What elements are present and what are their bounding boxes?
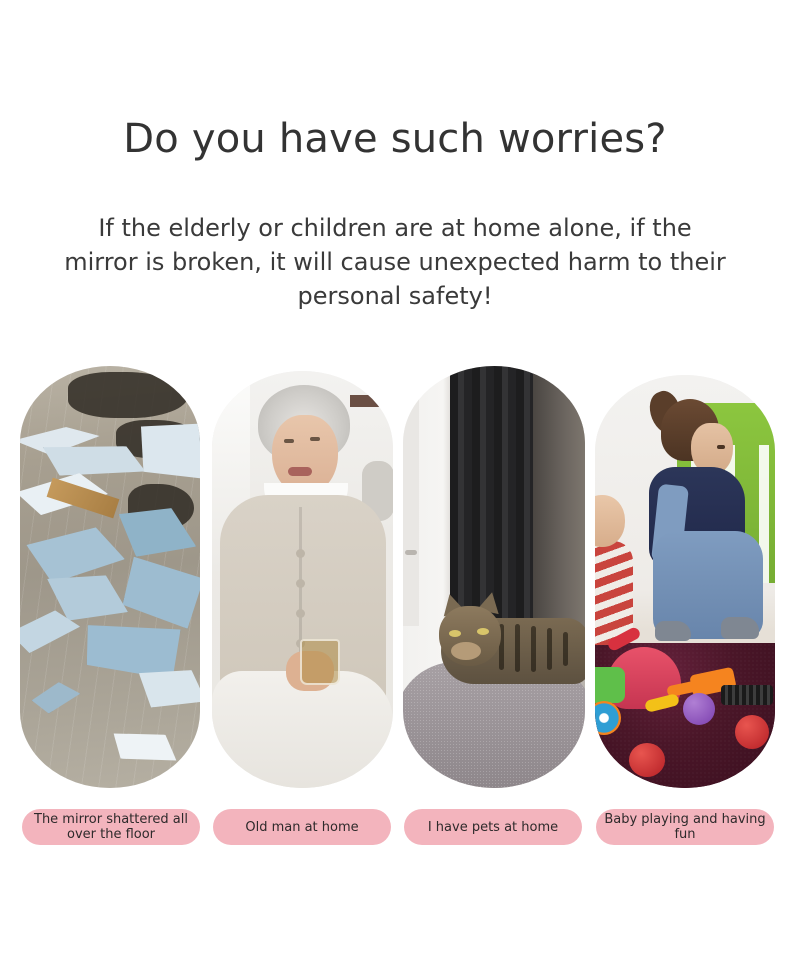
cat-muzzle	[451, 642, 481, 660]
drinking-glass	[300, 639, 340, 685]
child-shoe	[721, 617, 759, 639]
cat-eye	[449, 630, 461, 637]
cat-stripe	[547, 628, 552, 670]
button	[296, 549, 305, 558]
caption-row: The mirror shattered all over the floor …	[0, 809, 790, 851]
caption-shattered-mirror[interactable]: The mirror shattered all over the floor	[22, 809, 200, 845]
caption-children-playing[interactable]: Baby playing and having fun	[596, 809, 774, 845]
promo-page: Do you have such worries? If the elderly…	[0, 0, 790, 961]
panel-cat-at-home	[403, 366, 585, 788]
toy-green-block	[595, 667, 625, 703]
caption-elderly-woman[interactable]: Old man at home	[213, 809, 391, 845]
toy-track	[721, 685, 773, 705]
child-shoe	[655, 621, 691, 641]
button	[296, 579, 305, 588]
red-ball	[735, 715, 769, 749]
door-edge	[403, 366, 419, 626]
panel-elderly-woman	[212, 371, 393, 788]
photo-shattered-mirror	[20, 366, 200, 788]
red-ball	[629, 743, 665, 777]
cat-stripe	[531, 626, 536, 672]
mouth	[288, 467, 312, 476]
cat-eye	[477, 628, 489, 635]
cat-stripe	[563, 632, 568, 666]
image-panel-strip	[0, 363, 790, 788]
eye	[284, 439, 294, 443]
eye	[310, 437, 320, 441]
cat-stripe	[515, 624, 520, 672]
caption-cat-at-home[interactable]: I have pets at home	[404, 809, 582, 845]
button	[296, 609, 305, 618]
child-eye	[717, 445, 725, 449]
baby-head	[595, 495, 625, 547]
photo-children-playing	[595, 375, 775, 788]
panel-shattered-mirror	[20, 366, 200, 788]
debris-patch	[68, 372, 188, 418]
panel-children-playing	[595, 375, 775, 788]
page-subtitle: If the elderly or children are at home a…	[60, 211, 730, 313]
photo-elderly-woman	[212, 371, 393, 788]
door-handle	[405, 550, 417, 555]
window-frame	[350, 395, 393, 407]
page-title: Do you have such worries?	[0, 112, 790, 166]
photo-cat-at-home	[403, 366, 585, 788]
purple-ball	[683, 693, 715, 725]
